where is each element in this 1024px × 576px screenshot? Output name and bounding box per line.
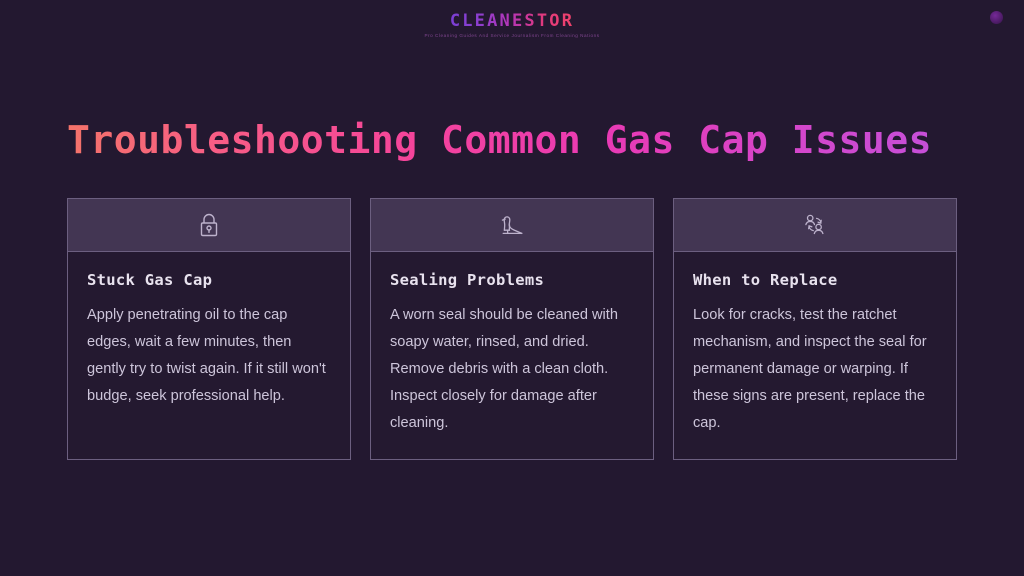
- card-body: Stuck Gas Cap Apply penetrating oil to t…: [68, 252, 350, 432]
- slide-canvas: CLEANESTOR Pro Cleaning Guides And Servi…: [0, 0, 1024, 576]
- card-grid: Stuck Gas Cap Apply penetrating oil to t…: [67, 198, 957, 460]
- card-when-to-replace: When to Replace Look for cracks, test th…: [673, 198, 957, 460]
- card-body: Sealing Problems A worn seal should be c…: [371, 252, 653, 459]
- user-replace-icon: [802, 212, 828, 238]
- card-title: Stuck Gas Cap: [87, 271, 331, 289]
- orb-badge-icon: [990, 11, 1003, 24]
- brand-logo: CLEANESTOR Pro Cleaning Guides And Servi…: [0, 13, 1024, 39]
- card-text: Look for cracks, test the ratchet mechan…: [693, 302, 937, 437]
- card-title: When to Replace: [693, 271, 937, 289]
- brand-logo-text: CLEANESTOR: [450, 13, 574, 30]
- brand-tagline: Pro Cleaning Guides And Service Journali…: [0, 34, 1024, 39]
- card-title: Sealing Problems: [390, 271, 634, 289]
- page-title: Troubleshooting Common Gas Cap Issues: [67, 118, 932, 162]
- padlock-icon: [197, 212, 221, 238]
- card-text: Apply penetrating oil to the cap edges, …: [87, 302, 331, 410]
- card-body: When to Replace Look for cracks, test th…: [674, 252, 956, 459]
- card-icon-header: [674, 199, 956, 252]
- card-text: A worn seal should be cleaned with soapy…: [390, 302, 634, 437]
- card-sealing-problems: Sealing Problems A worn seal should be c…: [370, 198, 654, 460]
- card-icon-header: [68, 199, 350, 252]
- card-icon-header: [371, 199, 653, 252]
- card-stuck-gas-cap: Stuck Gas Cap Apply penetrating oil to t…: [67, 198, 351, 460]
- seal-animal-icon: [499, 212, 525, 238]
